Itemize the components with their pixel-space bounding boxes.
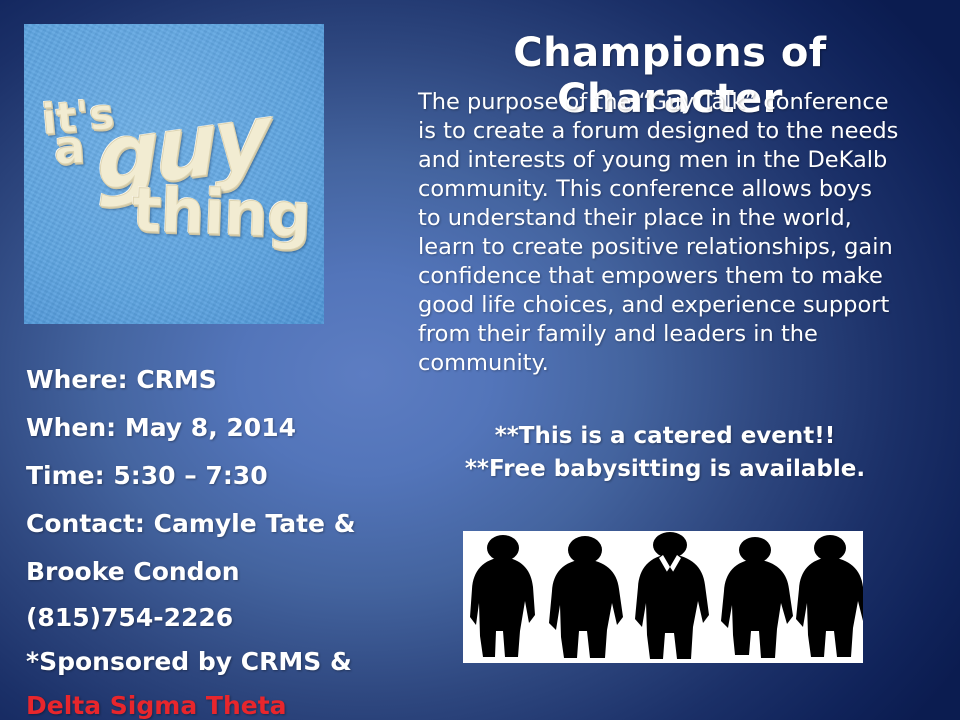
- purpose-line: is to create a forum designed to the nee…: [418, 117, 910, 146]
- sign-word-thing: thing: [131, 179, 312, 247]
- detail-phone: (815)754-2226: [26, 596, 386, 640]
- detail-when: When: May 8, 2014: [26, 404, 386, 452]
- men-silhouettes-photo: [463, 531, 863, 663]
- detail-contact-name-2: Brooke Condon: [26, 548, 386, 596]
- purpose-paragraph: The purpose of the “Guy Talk” conference…: [418, 88, 910, 378]
- detail-sponsor-2: Delta Sigma Theta: [26, 684, 386, 720]
- note-catered-event: **This is a catered event!!: [430, 420, 900, 453]
- sign-word-a: a: [53, 123, 86, 171]
- detail-sponsor-1: *Sponsored by CRMS &: [26, 640, 386, 684]
- detail-where: Where: CRMS: [26, 356, 386, 404]
- purpose-line: community. This conference allows boys: [418, 175, 910, 204]
- guy-thing-photo: it's a guy thing: [24, 24, 324, 324]
- purpose-line: to understand their place in the world,: [418, 204, 910, 233]
- event-details: Where: CRMS When: May 8, 2014 Time: 5:30…: [26, 356, 386, 720]
- wooden-sign-graphic: it's a guy thing: [24, 24, 324, 324]
- purpose-line: The purpose of the “Guy Talk” conference: [418, 88, 910, 117]
- purpose-line: and interests of young men in the DeKalb: [418, 146, 910, 175]
- purpose-line: community.: [418, 349, 910, 378]
- event-notes: **This is a catered event!! **Free babys…: [430, 420, 900, 486]
- purpose-line: confidence that empowers them to make: [418, 262, 910, 291]
- purpose-line: good life choices, and experience suppor…: [418, 291, 910, 320]
- note-free-babysitting: **Free babysitting is available.: [430, 453, 900, 486]
- purpose-line: learn to create positive relationships, …: [418, 233, 910, 262]
- silhouette-figures-graphic: [463, 531, 863, 663]
- detail-contact-name-1: Contact: Camyle Tate &: [26, 500, 386, 548]
- detail-time: Time: 5:30 – 7:30: [26, 452, 386, 500]
- slide-canvas: it's a guy thing Champions of Character …: [0, 0, 960, 720]
- purpose-line: from their family and leaders in the: [418, 320, 910, 349]
